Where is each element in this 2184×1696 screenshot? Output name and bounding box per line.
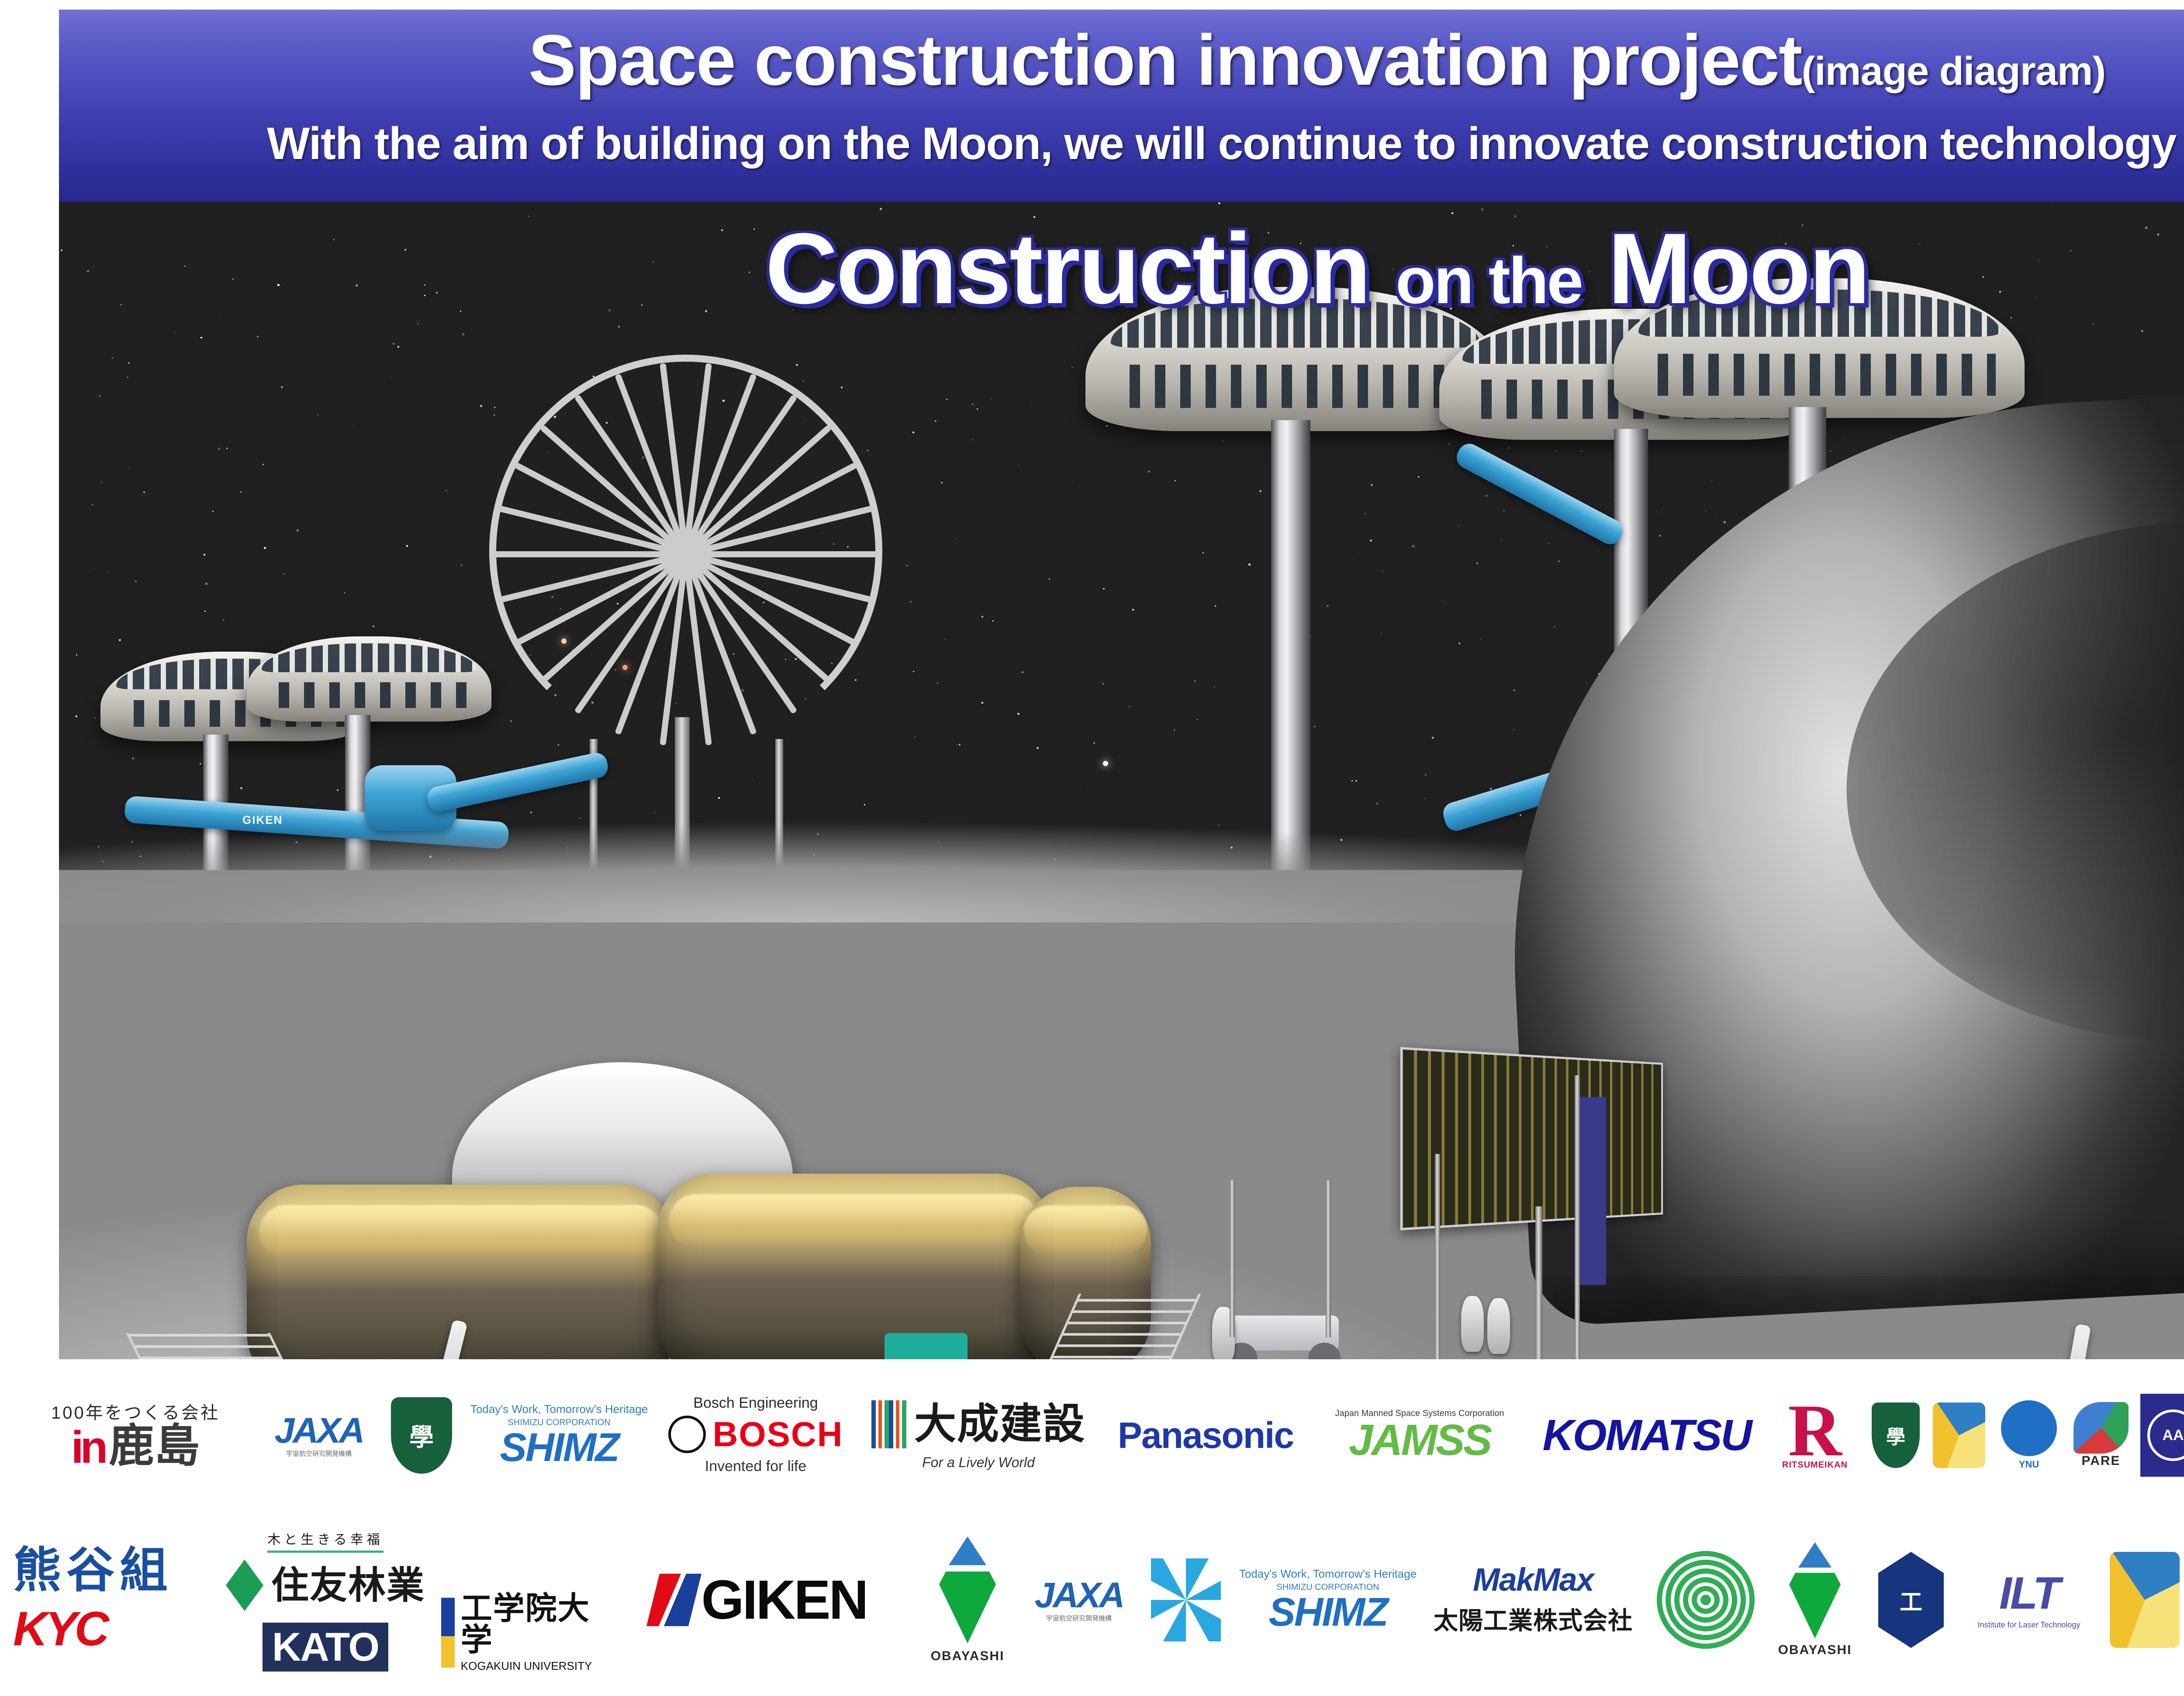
star: [2141, 330, 2143, 332]
star: [1197, 719, 1198, 720]
star: [880, 208, 882, 210]
logo-obayashi-2[interactable]: OBAYASHI: [1765, 1542, 1865, 1658]
star: [318, 415, 318, 415]
star: [935, 420, 936, 422]
star: [1480, 638, 1481, 639]
star: [1326, 682, 1327, 683]
pare-mark-icon: [2073, 1402, 2129, 1454]
star: [991, 398, 992, 399]
kajima-name: 鹿島: [109, 1426, 200, 1467]
star: [2052, 206, 2053, 207]
lunar-rover-small: [1216, 1294, 1352, 1359]
star: [128, 467, 129, 468]
star: [1412, 545, 1414, 547]
star: [397, 346, 399, 348]
taisei-name: 大成建設: [914, 1403, 1085, 1445]
panasonic-wordmark: Panasonic: [1118, 1417, 1293, 1454]
star: [1103, 588, 1105, 590]
sumitomo-tagline: 木と生きる幸福: [267, 1529, 383, 1553]
sponsor-logo-row-2: 熊谷組 KYC 木と生きる幸福 住友林業 KATO 工学院大学: [0, 1506, 2184, 1694]
kumagai-name: 熊谷組: [13, 1547, 173, 1595]
star: [760, 784, 760, 784]
star: [76, 715, 77, 717]
logo-pare[interactable]: PARE: [2066, 1402, 2136, 1468]
star: [344, 592, 345, 593]
star: [1711, 480, 1712, 481]
dome-glass: [262, 643, 477, 672]
star: [1175, 480, 1176, 481]
lunar-bulldozer: [845, 1333, 1116, 1359]
logo-makmax[interactable]: MakMax 太陽工業株式会社: [1420, 1564, 1647, 1637]
star: [353, 427, 354, 428]
page-title: Space construction innovation project(im…: [59, 24, 2184, 96]
star: [226, 448, 228, 449]
star: [946, 399, 947, 400]
sponsor-logo-area: 100年をつくる会社 in 鹿島 JAXA 宇宙航空研究開発機構 學 Today…: [0, 1362, 2184, 1696]
star: [1214, 687, 1215, 687]
kyc-wordmark: KYC: [13, 1605, 107, 1653]
logo-taisei[interactable]: 大成建設 For a Lively World: [856, 1400, 1101, 1471]
star: [906, 565, 908, 566]
star: [977, 408, 978, 410]
star: [94, 717, 96, 718]
star: [1314, 726, 1315, 727]
university-seal-icon: 工: [1878, 1552, 1944, 1648]
excavator-boom: [2060, 1324, 2091, 1359]
star: [107, 571, 108, 572]
star: [297, 529, 299, 532]
page-title-paren: (image diagram): [1802, 49, 2106, 93]
logo-kajima[interactable]: 100年をつくる会社 in 鹿島: [13, 1403, 258, 1467]
star: [135, 580, 137, 582]
giken-slash-icon: [647, 1574, 702, 1626]
giken-wordmark: GIKEN: [701, 1572, 867, 1627]
shimizu-tagline: Today's Work, Tomorrow's Heritage: [1239, 1568, 1417, 1580]
kajima-tagline: 100年をつくる会社: [51, 1403, 220, 1423]
star: [959, 744, 961, 746]
star: [1073, 480, 1074, 481]
aa-label: AA: [2147, 1409, 2184, 1461]
star: [462, 333, 464, 335]
star: [1327, 605, 1329, 607]
star: [937, 730, 938, 731]
radial-antenna-icon: [489, 355, 882, 748]
kogakuin-bar-icon: [441, 1598, 455, 1668]
logo-kumagai[interactable]: 熊谷組 KYC: [4, 1547, 210, 1653]
star: [419, 638, 421, 639]
star: [1022, 671, 1023, 673]
star: [1072, 367, 1073, 368]
logo-obayashi[interactable]: OBAYASHI: [913, 1537, 1022, 1664]
star: [955, 539, 956, 540]
gantry-mast: [1326, 1180, 1331, 1337]
bosch-wordmark: BOSCH: [713, 1417, 843, 1452]
bosch-tagline: Bosch Engineering: [693, 1395, 818, 1411]
logo-sun-university-2[interactable]: [2101, 1552, 2184, 1648]
star: [99, 395, 101, 397]
star: [1018, 464, 1019, 465]
ritsumeikan-name: RITSUMEIKAN: [1782, 1460, 1848, 1470]
star: [204, 554, 205, 556]
star: [1659, 535, 1661, 537]
star: [1448, 443, 1449, 445]
star: [1031, 401, 1032, 401]
logo-ynu[interactable]: YNU: [1992, 1400, 2066, 1470]
sun-logo-icon: [1933, 1402, 1985, 1468]
star: [1458, 642, 1460, 644]
logo-panasonic[interactable]: Panasonic: [1101, 1417, 1310, 1454]
star: [1358, 553, 1358, 554]
lunar-excavator-left: [391, 1320, 535, 1359]
star: [1581, 451, 1582, 452]
star: [1382, 571, 1383, 572]
snowflake-icon: [1151, 1558, 1221, 1641]
ynu-label: YNU: [2019, 1459, 2039, 1470]
star: [941, 482, 943, 484]
logo-sumitomo[interactable]: 木と生きる幸福 住友林業 KATO: [210, 1529, 441, 1672]
star: [910, 601, 912, 603]
logo-shimizu[interactable]: Today's Work, Tomorrow's Heritage SHIMIZ…: [463, 1403, 655, 1468]
star: [1555, 450, 1557, 452]
scene-headline-part1: Construction: [765, 212, 1369, 325]
star: [1425, 774, 1427, 776]
sumitomo-name: 住友林業: [271, 1567, 425, 1604]
star: [480, 405, 482, 407]
sponsor-logo-row-1: 100年をつくる会社 in 鹿島 JAXA 宇宙航空研究開発機構 學 Today…: [0, 1365, 2184, 1505]
star: [937, 683, 938, 684]
jaxa-sub: 宇宙航空研究開発機構: [286, 1449, 352, 1458]
star: [461, 564, 462, 566]
star: [1087, 786, 1087, 787]
star: [92, 504, 93, 505]
star: [1203, 552, 1204, 553]
star: [981, 702, 983, 704]
antenna-spoke: [686, 551, 878, 557]
gantry-mast: [1230, 1180, 1235, 1337]
star: [127, 377, 128, 378]
star: [1432, 737, 1434, 739]
star: [914, 736, 915, 737]
star: [1132, 609, 1134, 611]
star: [223, 619, 224, 620]
solar-array-mast: [1535, 1206, 1542, 1359]
obayashi-label: OBAYASHI: [1778, 1643, 1852, 1658]
star: [240, 787, 242, 789]
star: [263, 464, 264, 465]
ynu-seal-icon: [2001, 1400, 2057, 1456]
flag-pole: [1575, 1075, 1580, 1359]
star: [1106, 425, 1108, 427]
star: [1558, 560, 1560, 562]
logo-aa[interactable]: AA: [2136, 1394, 2184, 1477]
logo-sun-university[interactable]: [1926, 1402, 1992, 1468]
logo-university-seal-green[interactable]: 學: [380, 1397, 463, 1474]
star: [1490, 788, 1492, 790]
logo-kogakuin[interactable]: 工学院大学 KOGAKUIN UNIVERSITY: [441, 1527, 607, 1673]
star: [981, 616, 983, 618]
star: [1503, 510, 1505, 511]
star: [945, 639, 946, 640]
scene-headline-part2: on the: [1396, 244, 1582, 317]
lunar-excavator-right: [1959, 1324, 2184, 1359]
star: [718, 797, 720, 799]
shimizu-tagline: Today's Work, Tomorrow's Heritage: [470, 1403, 648, 1416]
makmax-wordmark: MakMax: [1473, 1564, 1593, 1596]
star: [1501, 540, 1502, 541]
star: [1445, 603, 1446, 604]
star: [1037, 747, 1039, 749]
jamss-wordmark: JAMSS: [1349, 1418, 1491, 1462]
jaxa-wordmark: JAXA: [275, 1413, 363, 1449]
logo-jaxa-2[interactable]: JAXA 宇宙航空研究開発機構: [1022, 1578, 1136, 1623]
sun-logo-icon: [2110, 1552, 2180, 1648]
bosch-mark-icon: [668, 1416, 706, 1453]
star: [101, 482, 102, 483]
star: [1376, 803, 1378, 805]
logo-shimizu-2[interactable]: Today's Work, Tomorrow's Heritage SHIMIZ…: [1236, 1568, 1420, 1633]
kajima-in-mark: in: [71, 1428, 104, 1467]
star: [1215, 605, 1216, 607]
header-banner: Space construction innovation project(im…: [59, 10, 2184, 202]
bosch-slogan: Invented for life: [705, 1458, 806, 1475]
star: [1514, 690, 1515, 691]
star: [992, 620, 994, 622]
lunar-scene-image: GIKEN GIKEN GIKEN: [59, 202, 2184, 1359]
dome-windows: [264, 682, 474, 708]
star: [1513, 729, 1514, 730]
star: [1830, 451, 1831, 452]
star: [1716, 516, 1716, 516]
star: [1724, 521, 1726, 523]
komatsu-wordmark: KOMATSU: [1542, 1413, 1751, 1457]
dome-windows: [1643, 354, 1996, 396]
green-circular-seal-icon: [1655, 1550, 1756, 1650]
star: [1351, 780, 1353, 781]
obayashi-mark-icon-2: [1789, 1573, 1841, 1638]
logo-ilt[interactable]: ILT Institute for Laser Technology: [1957, 1571, 2101, 1630]
star: [1365, 513, 1366, 514]
star: [119, 639, 121, 641]
ritsumeikan-mark: R: [1788, 1401, 1842, 1460]
kogakuin-name-en: KOGAKUIN UNIVERSITY: [461, 1659, 607, 1673]
logo-ritsumeikan[interactable]: R RITSUMEIKAN: [1765, 1401, 1865, 1470]
antenna-spoke: [494, 551, 686, 557]
jaxa-wordmark: JAXA: [1035, 1578, 1123, 1613]
star: [1371, 484, 1373, 486]
star: [212, 511, 214, 512]
logo-giken[interactable]: GIKEN: [607, 1572, 913, 1627]
star: [1129, 706, 1130, 707]
university-seal-icon: 學: [391, 1397, 452, 1474]
star: [132, 757, 134, 760]
ilt-fullname: Institute for Laser Technology: [1978, 1620, 2080, 1630]
star: [1554, 626, 1555, 627]
star: [972, 439, 973, 440]
star: [1093, 742, 1095, 744]
logo-snowflake[interactable]: [1136, 1558, 1236, 1641]
poster-root: Space construction innovation project(im…: [0, 0, 2184, 1696]
star: [204, 611, 206, 612]
shimizu-wordmark: SHIMZ: [1268, 1592, 1387, 1632]
university-seal-icon: 學: [1872, 1402, 1920, 1468]
star: [393, 343, 394, 345]
gold-cylinder-habitat-2: [657, 1174, 1051, 1359]
bright-star: [1103, 761, 1108, 766]
star: [1148, 470, 1150, 473]
star: [406, 545, 408, 547]
kato-wordmark: KATO: [263, 1623, 388, 1672]
star: [76, 654, 77, 656]
aa-mark-icon: AA: [2140, 1394, 2184, 1477]
star: [391, 377, 391, 378]
star: [200, 337, 202, 339]
star: [1418, 476, 1419, 477]
logo-university-seal-blue[interactable]: 工: [1865, 1552, 1957, 1648]
logo-green-seal[interactable]: [1647, 1550, 1765, 1650]
star: [1218, 202, 1220, 204]
star: [218, 448, 220, 450]
header-tagline: With the aim of building on the Moon, we…: [59, 119, 2184, 169]
star: [240, 491, 242, 493]
star: [174, 332, 175, 333]
star: [1425, 798, 1426, 799]
star: [257, 336, 259, 338]
star: [1248, 563, 1251, 566]
page-title-main: Space construction innovation project: [529, 20, 1802, 100]
star: [913, 671, 914, 672]
star: [1370, 539, 1372, 542]
star: [957, 744, 957, 745]
star: [281, 386, 283, 388]
star: [1102, 683, 1104, 684]
logo-jamss[interactable]: Japan Manned Space Systems Corporation J…: [1310, 1409, 1529, 1462]
astronaut-figure: [1487, 1298, 1510, 1354]
star: [112, 357, 113, 359]
star: [264, 547, 266, 549]
star: [128, 362, 130, 364]
logo-komatsu[interactable]: KOMATSU: [1529, 1413, 1765, 1457]
obayashi-mark-icon: [1798, 1542, 1832, 1568]
star: [972, 404, 973, 405]
star: [283, 573, 285, 575]
obayashi-label: OBAYASHI: [931, 1649, 1005, 1664]
star: [205, 583, 207, 585]
star: [1656, 511, 1657, 512]
excavator-boom: [432, 1319, 467, 1359]
star: [337, 789, 339, 791]
star: [1355, 780, 1357, 782]
star: [1458, 525, 1459, 527]
star: [1508, 447, 1509, 449]
ilt-wordmark: ILT: [1999, 1571, 2059, 1616]
scene-headline: Construction on the Moon: [59, 211, 2184, 326]
obayashi-mark-icon: [949, 1537, 986, 1565]
obayashi-mark-icon-2: [939, 1572, 996, 1644]
taisei-mark-icon: [871, 1400, 906, 1448]
star: [1017, 713, 1019, 715]
logo-bosch[interactable]: Bosch Engineering BOSCH Invented for lif…: [655, 1395, 856, 1475]
astronaut-figure: [1461, 1296, 1484, 1352]
kajima-mark-row: in 鹿島: [71, 1426, 200, 1467]
star: [143, 491, 145, 493]
star: [1223, 441, 1223, 442]
star: [864, 804, 865, 805]
taisei-slogan: For a Lively World: [922, 1454, 1035, 1471]
star: [1174, 729, 1175, 731]
scene-headline-part3: Moon: [1608, 212, 1869, 325]
star: [89, 570, 89, 571]
taiyo-kogyo-name: 太陽工業株式会社: [1434, 1601, 1633, 1637]
star: [1476, 563, 1478, 564]
star: [200, 763, 201, 764]
lunar-rover-yellow: [1566, 1333, 1749, 1359]
star: [1259, 490, 1261, 492]
star: [1381, 633, 1382, 634]
star: [912, 432, 914, 433]
star: [1705, 510, 1706, 511]
star: [1049, 578, 1050, 580]
sumitomo-diamond-icon: [226, 1560, 263, 1611]
logo-university-seal-green-2[interactable]: 學: [1865, 1402, 1926, 1468]
bulldozer-cab: [885, 1333, 968, 1359]
star: [1194, 680, 1196, 682]
dome-windows: [1115, 365, 1476, 408]
logo-jaxa[interactable]: JAXA 宇宙航空研究開発機構: [258, 1413, 380, 1458]
star: [1548, 542, 1549, 544]
star: [446, 490, 447, 491]
jaxa-sub: 宇宙航空研究開発機構: [1046, 1613, 1112, 1623]
star: [1486, 495, 1487, 497]
pare-label: PARE: [2081, 1454, 2120, 1468]
shimizu-wordmark: SHIMZ: [500, 1427, 618, 1468]
solar-array-mast-2: [1435, 1154, 1440, 1359]
kogakuin-name: 工学院大学: [461, 1593, 607, 1656]
star: [373, 625, 374, 627]
